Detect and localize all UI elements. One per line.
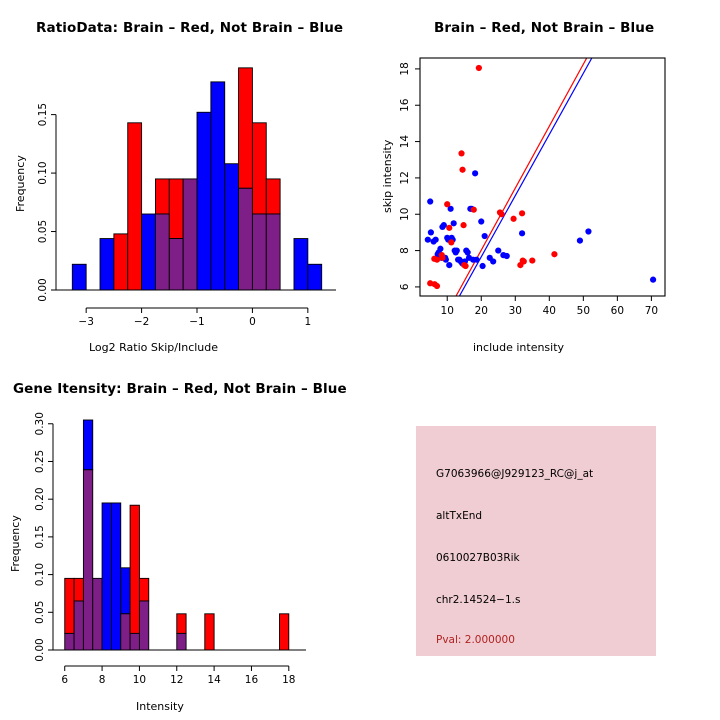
histogram-bar-overlap [252, 214, 266, 290]
y-axis-tick-label: 18 [399, 62, 411, 75]
histogram-bar [239, 68, 253, 188]
histogram-bar-overlap [169, 239, 183, 290]
y-axis-tick-label: 0.10 [34, 563, 46, 586]
histogram-bar [266, 179, 280, 214]
svg-gene-bars [65, 420, 289, 650]
y-axis-tick-label: 0.05 [37, 220, 49, 243]
histogram-bar [65, 578, 74, 633]
histogram-bar [72, 264, 86, 290]
histogram-bar [155, 179, 169, 214]
gene-histogram-ylabel: Frequency [9, 515, 22, 572]
y-axis-tick-label: 10 [399, 208, 411, 221]
panel-scatter-title: Brain – Red, Not Brain – Blue [434, 20, 654, 36]
panel-gene-histogram: Gene Itensity: Brain – Red, Not Brain – … [0, 360, 360, 720]
scatter-point [473, 257, 479, 263]
x-axis-tick-label: 60 [611, 305, 624, 317]
x-axis-tick-label: −3 [78, 316, 93, 328]
histogram-bar [128, 123, 142, 290]
histogram-bar-overlap [74, 601, 83, 650]
scatter-point [482, 233, 488, 239]
info-line-probeset: G7063966@J929123_RC@j_at [436, 468, 593, 480]
x-axis-tick-label: 30 [509, 305, 522, 317]
histogram-bar [111, 503, 120, 650]
histogram-bar-overlap [65, 633, 74, 650]
histogram-bar [205, 614, 214, 650]
scatter-point [444, 201, 450, 207]
scatter-point [471, 207, 477, 213]
scatter-point [434, 257, 440, 263]
histogram-bar [121, 568, 130, 614]
ratio-histogram-plot: 0.000.050.100.15−3−2−101 [0, 0, 360, 360]
scatter-point [446, 225, 452, 231]
scatter-point [478, 218, 484, 224]
scatter-point [495, 247, 501, 253]
info-box: G7063966@J929123_RC@j_at altTxEnd 061002… [416, 426, 656, 656]
x-axis-tick-label: 16 [245, 674, 259, 686]
histogram-bar [102, 503, 111, 650]
info-line-pval: Pval: 2.000000 [436, 634, 515, 646]
x-axis-tick-label: 8 [99, 674, 106, 686]
scatter-point [476, 65, 482, 71]
y-axis-tick-label: 0.15 [37, 103, 49, 126]
scatter-point [510, 216, 516, 222]
scatter-point [480, 263, 486, 269]
scatter-point [521, 258, 527, 264]
info-line-event-type: altTxEnd [436, 510, 482, 522]
y-axis-tick-label: 8 [399, 247, 411, 254]
scatter-point [462, 263, 468, 269]
histogram-bar-overlap [177, 633, 186, 650]
y-axis-tick-label: 0.05 [34, 601, 46, 624]
y-axis-tick-label: 0.00 [37, 278, 49, 301]
info-line-coordinate: chr2.14524−1.s [436, 594, 520, 606]
x-axis-tick-label: 12 [170, 674, 183, 686]
scatter-point [441, 222, 447, 228]
y-axis-tick-label: 0.25 [34, 450, 46, 473]
histogram-bar-overlap [183, 179, 197, 290]
scatter-ylabel: skip intensity [381, 140, 394, 213]
scatter-point [519, 230, 525, 236]
histogram-bar [177, 614, 186, 634]
scatter-point [504, 253, 510, 259]
scatter-point [434, 283, 440, 289]
scatter-point [490, 258, 496, 264]
panel-ratio-histogram: RatioData: Brain – Red, Not Brain – Blue… [0, 0, 360, 360]
figure-canvas: RatioData: Brain – Red, Not Brain – Blue… [0, 0, 720, 720]
y-axis-tick-label: 0.20 [34, 487, 46, 510]
x-axis-tick-label: 70 [645, 305, 658, 317]
histogram-bar [279, 614, 288, 650]
info-line-gene-symbol: 0610027B03Rik [436, 552, 520, 564]
scatter-point [446, 262, 452, 268]
histogram-bar [294, 239, 308, 290]
histogram-bar [169, 179, 183, 239]
scatter-point [529, 257, 535, 263]
panel-info: G7063966@J929123_RC@j_at altTxEnd 061002… [360, 360, 720, 720]
x-axis-tick-label: 10 [133, 674, 146, 686]
scatter-point [460, 222, 466, 228]
histogram-bar-overlap [155, 214, 169, 290]
scatter-point [519, 210, 525, 216]
histogram-bar [197, 112, 211, 290]
y-axis-tick-label: 12 [399, 171, 411, 184]
scatter-point [465, 249, 471, 255]
scatter-point [459, 167, 465, 173]
scatter-point [439, 255, 445, 261]
x-axis-tick-label: 1 [304, 316, 311, 328]
y-axis-tick-label: 14 [399, 135, 411, 149]
y-axis-tick-label: 0.15 [34, 525, 46, 548]
x-axis-tick-label: 50 [577, 305, 590, 317]
histogram-bar-overlap [93, 578, 102, 650]
scatter-point [551, 251, 557, 257]
y-axis-tick-label: 0.10 [37, 161, 49, 184]
scatter-point [437, 246, 443, 252]
panel-scatter: Brain – Red, Not Brain – Blue 6810121416… [360, 0, 720, 360]
scatter-point [577, 237, 583, 243]
histogram-bar [100, 239, 114, 290]
scatter-point [650, 277, 656, 283]
x-axis-tick-label: −2 [134, 316, 149, 328]
scatter-xlabel: include intensity [473, 341, 564, 354]
histogram-bar [211, 82, 225, 290]
scatter-point [458, 150, 464, 156]
scatter-content [425, 58, 656, 296]
x-axis-tick-label: −1 [189, 316, 204, 328]
histogram-bar-overlap [266, 214, 280, 290]
gene-histogram-plot: 0.000.050.100.150.200.250.30681012141618 [0, 360, 360, 720]
scatter-point [454, 247, 460, 253]
scatter-point [427, 198, 433, 204]
panel-ratio-histogram-title: RatioData: Brain – Red, Not Brain – Blue [36, 20, 343, 36]
histogram-bar [114, 234, 128, 290]
scatter-point [499, 211, 505, 217]
histogram-bar [225, 164, 239, 290]
y-axis-tick-label: 16 [399, 98, 411, 112]
histogram-bar-overlap [130, 633, 139, 650]
x-axis-tick-label: 14 [207, 674, 221, 686]
x-axis-tick-label: 0 [249, 316, 256, 328]
histogram-bar-overlap [121, 614, 130, 650]
ratio-histogram-xlabel: Log2 Ratio Skip/Include [89, 341, 218, 354]
y-axis-tick-label: 0.00 [34, 638, 46, 661]
scatter-point [451, 220, 457, 226]
x-axis-tick-label: 40 [543, 305, 556, 317]
x-axis-tick-label: 6 [61, 674, 68, 686]
histogram-bar [130, 505, 139, 633]
scatter-point [425, 237, 431, 243]
x-axis-tick-label: 18 [282, 674, 295, 686]
scatter-point [585, 228, 591, 234]
histogram-bar-overlap [139, 601, 148, 650]
histogram-bar [308, 264, 322, 290]
scatter-point [433, 237, 439, 243]
x-axis-tick-label: 10 [441, 305, 454, 317]
y-axis-tick-label: 6 [399, 283, 411, 290]
scatter-point [448, 239, 454, 245]
histogram-bar [252, 123, 266, 214]
histogram-bar-overlap [83, 470, 92, 650]
histogram-bar [74, 578, 83, 601]
scatter-plot: 68101214161810203040506070 [360, 0, 720, 360]
x-axis-tick-label: 20 [475, 305, 488, 317]
histogram-bar [142, 214, 156, 290]
gene-histogram-xlabel: Intensity [136, 700, 184, 713]
scatter-point [472, 170, 478, 176]
histogram-bar [139, 578, 148, 601]
y-axis-tick-label: 0.30 [34, 412, 46, 435]
panel-gene-histogram-title: Gene Itensity: Brain – Red, Not Brain – … [13, 381, 347, 397]
scatter-point [428, 229, 434, 235]
histogram-bar [83, 420, 92, 470]
ratio-histogram-ylabel: Frequency [14, 155, 27, 212]
histogram-bar-overlap [239, 188, 253, 290]
svg-ratio-bars [72, 68, 321, 290]
